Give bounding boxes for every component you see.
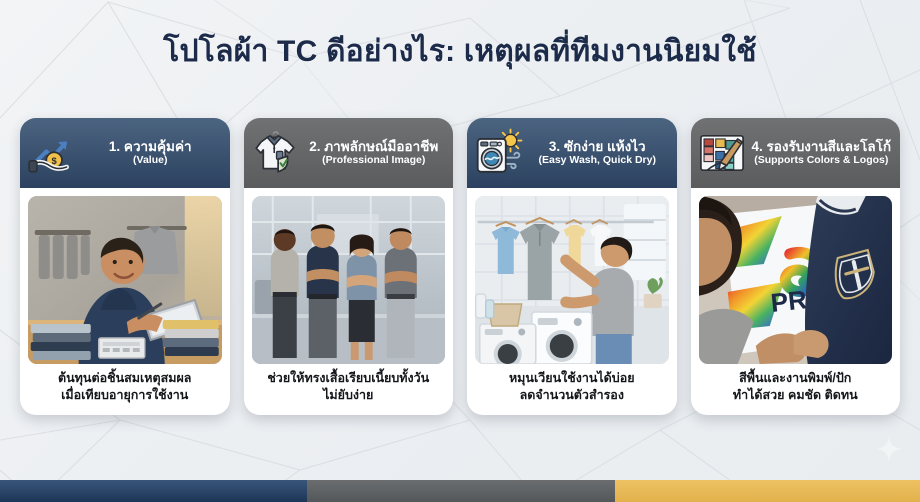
card-header-2: 2. ภาพลักษณ์มืออาชีพ (Professional Image…	[244, 118, 454, 188]
card-caption-line2-4: ทำได้สวย คมชัด ติดทน	[733, 388, 858, 402]
infographic-slide: โปโลผ้า TC ดีอย่างไร: เหตุผลที่ทีมงานนิย…	[0, 0, 920, 502]
card-header-3: 3. ซักง่าย แห้งไว (Easy Wash, Quick Dry)	[467, 118, 677, 188]
photo-print-samples-and-embroidered-navy-polo: PRINT	[699, 196, 893, 364]
polo-shirt-with-shield-icon	[250, 128, 300, 178]
card-heading-en-4: (Supports Colors & Logos)	[752, 155, 892, 167]
card-heading-th-1: 1. ความคุ้มค่า	[81, 139, 220, 154]
card-caption-2: ช่วยให้ทรงเสื้อเรียบเนี้ยบทั้งวัน ไม่ยับ…	[244, 364, 454, 415]
card-caption-line2-1: เมื่อเทียบอายุการใช้งาน	[61, 388, 188, 402]
benefit-card-1[interactable]: $ 1. ความคุ้มค่า (Value)	[20, 118, 230, 415]
title-block: โปโลผ้า TC ดีอย่างไร: เหตุผลที่ทีมงานนิย…	[0, 34, 920, 70]
benefit-card-3[interactable]: 3. ซักง่าย แห้งไว (Easy Wash, Quick Dry)	[467, 118, 677, 415]
card-heading-en-1: (Value)	[81, 155, 220, 167]
hand-holding-coin-growth-icon: $	[26, 128, 76, 178]
card-heading-th-3: 3. ซักง่าย แห้งไว	[528, 139, 667, 154]
benefit-card-4[interactable]: 4. รองรับงานสีและโลโก้ (Supports Colors …	[691, 118, 901, 415]
paint-palette-brush-swatches-icon	[697, 128, 747, 178]
card-caption-line1-4: สีพื้นและงานพิมพ์/ปัก	[739, 371, 851, 385]
card-header-text-4: 4. รองรับงานสีและโลโก้ (Supports Colors …	[752, 139, 894, 167]
card-heading-th-2: 2. ภาพลักษณ์มืออาชีพ	[305, 139, 444, 154]
card-header-4: 4. รองรับงานสีและโลโก้ (Supports Colors …	[691, 118, 901, 188]
photo-man-with-tablet-and-folded-polos	[28, 196, 222, 364]
photo-man-hanging-shirts-above-washing-machines	[475, 196, 669, 364]
card-header-1: $ 1. ความคุ้มค่า (Value)	[20, 118, 230, 188]
sparkle-icon	[876, 436, 902, 462]
card-caption-line1-3: หมุนเวียนใช้งานได้บ่อย	[509, 371, 635, 385]
cards-row: $ 1. ความคุ้มค่า (Value)	[20, 118, 900, 415]
bottom-bar-navy-segment	[0, 480, 307, 502]
card-heading-th-4: 4. รองรับงานสีและโลโก้	[752, 139, 892, 154]
bottom-bar-gold-segment	[615, 480, 920, 502]
card-heading-en-3: (Easy Wash, Quick Dry)	[528, 155, 667, 167]
page-title: โปโลผ้า TC ดีอย่างไร: เหตุผลที่ทีมงานนิย…	[0, 34, 920, 70]
card-caption-3: หมุนเวียนใช้งานได้บ่อย ลดจำนวนตัวสำรอง	[467, 364, 677, 415]
washing-machine-sun-wind-icon	[473, 128, 523, 178]
bottom-color-bar	[0, 480, 920, 502]
card-header-text-1: 1. ความคุ้มค่า (Value)	[81, 139, 222, 167]
card-caption-1: ต้นทุนต่อชิ้นสมเหตุสมผล เมื่อเทียบอายุกา…	[20, 364, 230, 415]
photo-team-in-polo-uniforms-office-lobby	[252, 196, 446, 364]
card-heading-en-2: (Professional Image)	[305, 155, 444, 167]
card-header-text-2: 2. ภาพลักษณ์มืออาชีพ (Professional Image…	[305, 139, 446, 167]
card-header-text-3: 3. ซักง่าย แห้งไว (Easy Wash, Quick Dry)	[528, 139, 669, 167]
svg-text:$: $	[52, 156, 58, 166]
card-caption-line1-2: ช่วยให้ทรงเสื้อเรียบเนี้ยบทั้งวัน	[267, 371, 429, 385]
card-caption-4: สีพื้นและงานพิมพ์/ปัก ทำได้สวย คมชัด ติด…	[691, 364, 901, 415]
benefit-card-2[interactable]: 2. ภาพลักษณ์มืออาชีพ (Professional Image…	[244, 118, 454, 415]
card-caption-line2-2: ไม่ยับง่าย	[323, 388, 373, 402]
bottom-bar-gray-segment	[307, 480, 615, 502]
card-caption-line2-3: ลดจำนวนตัวสำรอง	[520, 388, 624, 402]
card-caption-line1-1: ต้นทุนต่อชิ้นสมเหตุสมผล	[58, 371, 191, 385]
